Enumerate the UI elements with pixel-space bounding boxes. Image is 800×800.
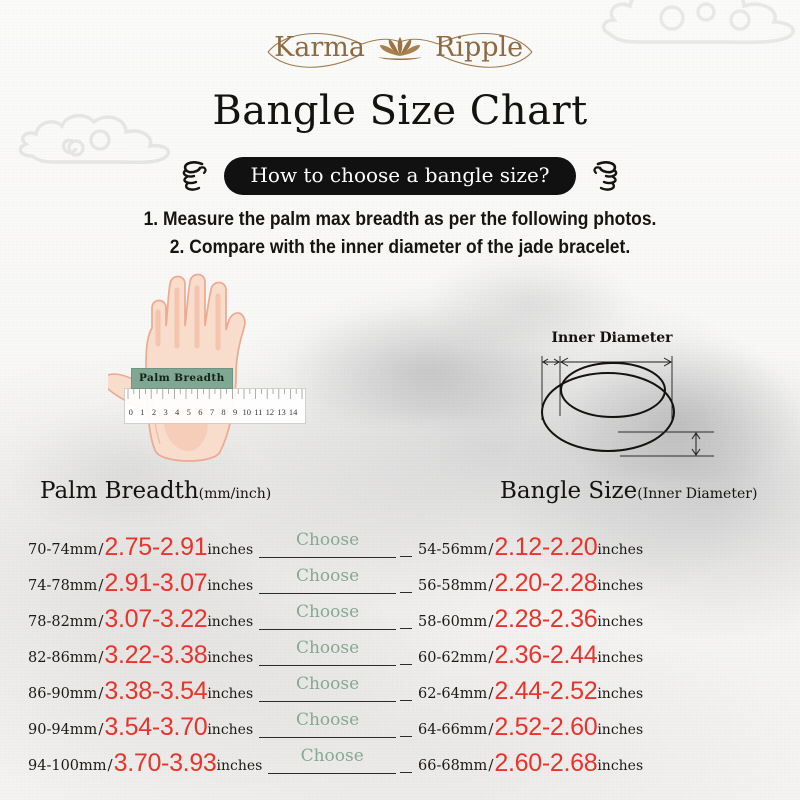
value-separator: / <box>97 540 104 560</box>
palm-inch-value: 2.75-2.91 <box>104 535 207 560</box>
ruler-numbers: 0 1 2 3 4 5 6 7 8 9 10 11 12 13 14 <box>125 402 305 422</box>
palm-inch-value: 3.54-3.70 <box>104 715 207 740</box>
value-separator: / <box>487 648 494 668</box>
ruler-number: 14 <box>287 407 299 417</box>
choose-underline <box>259 737 396 738</box>
bangle-inch-value: 2.60-2.68 <box>494 751 597 776</box>
instructions-block: 1. Measure the palm max breadth as per t… <box>0 206 800 262</box>
choose-label[interactable]: Choose <box>259 530 396 550</box>
ruler-number: 4 <box>171 407 183 417</box>
bangle-inch-unit: inches <box>597 542 643 560</box>
brand-logo-svg: Karma Ripple <box>250 22 550 74</box>
choose-label[interactable]: Choose <box>259 710 396 730</box>
palm-inch-unit: inches <box>207 578 253 596</box>
bangle-inch-value: 2.36-2.44 <box>494 643 597 668</box>
bangle-inch-unit: inches <box>597 614 643 632</box>
bangle-inch-value: 2.52-2.60 <box>494 715 597 740</box>
palm-mm-value: 82-86mm <box>28 650 97 668</box>
value-separator: / <box>97 576 104 596</box>
instruction-step-1: 1. Measure the palm max breadth as per t… <box>32 206 768 234</box>
choose-underline <box>259 701 396 702</box>
curly-flourish-right-icon <box>590 156 624 196</box>
bangle-size-cell: 64-66mm/2.52-2.60inches <box>400 715 800 740</box>
bangle-size-cell: 62-64mm/2.44-2.52inches <box>400 679 800 704</box>
subtitle-row: How to choose a bangle size? <box>0 156 800 196</box>
table-row: 78-82mm/3.07-3.22inchesChoose58-60mm/2.2… <box>0 596 800 632</box>
size-table: 70-74mm/2.75-2.91inchesChoose54-56mm/2.1… <box>0 524 800 776</box>
bangle-inch-value: 2.44-2.52 <box>494 679 597 704</box>
ruler-number: 12 <box>264 407 276 417</box>
bangle-size-cell: 58-60mm/2.28-2.36inches <box>400 607 800 632</box>
value-separator: / <box>97 720 104 740</box>
row-connector-dash <box>400 556 412 557</box>
brand-name-left: Karma <box>274 32 365 63</box>
value-separator: / <box>487 756 494 776</box>
ruler-number: 7 <box>206 407 218 417</box>
choose-slot[interactable]: Choose <box>259 676 396 702</box>
hand-measurement-figure: Palm Breadth <box>108 268 318 468</box>
value-separator: / <box>487 540 494 560</box>
ruler-number: 13 <box>276 407 288 417</box>
ruler-number: 2 <box>148 407 160 417</box>
choose-underline <box>259 665 396 666</box>
choose-label[interactable]: Choose <box>259 638 396 658</box>
value-separator: / <box>487 576 494 596</box>
ruler-number: 1 <box>137 407 149 417</box>
ruler-number: 6 <box>195 407 207 417</box>
palm-inch-unit: inches <box>207 722 253 740</box>
page-title: Bangle Size Chart <box>0 88 800 134</box>
bangle-mm-value: 56-58mm <box>418 578 487 596</box>
bangle-size-chart-page: Karma Ripple Bangle Size Chart How to ch… <box>0 0 800 800</box>
bangle-inch-unit: inches <box>597 686 643 704</box>
value-separator: / <box>107 756 114 776</box>
palm-breadth-cell: 94-100mm/3.70-3.93inchesChoose <box>0 748 400 776</box>
bangle-size-cell: 60-62mm/2.36-2.44inches <box>400 643 800 668</box>
palm-breadth-cell: 70-74mm/2.75-2.91inchesChoose <box>0 532 400 560</box>
choose-underline <box>259 629 396 630</box>
bangle-inch-unit: inches <box>597 722 643 740</box>
value-separator: / <box>487 684 494 704</box>
palm-inch-unit: inches <box>207 614 253 632</box>
ruler-overlay: 0 1 2 3 4 5 6 7 8 9 10 11 12 13 14 <box>124 388 306 424</box>
table-row: 94-100mm/3.70-3.93inchesChoose66-68mm/2.… <box>0 740 800 776</box>
bangle-inch-value: 2.20-2.28 <box>494 571 597 596</box>
right-column-title: Bangle Size <box>500 478 637 504</box>
palm-inch-value: 3.70-3.93 <box>114 751 217 776</box>
choose-slot[interactable]: Choose <box>268 748 396 774</box>
row-connector-dash <box>400 736 412 737</box>
palm-inch-unit: inches <box>207 542 253 560</box>
bangle-inch-value: 2.28-2.36 <box>494 607 597 632</box>
curly-flourish-left-icon <box>176 156 210 196</box>
row-connector-dash <box>400 592 412 593</box>
ruler-ticks-icon <box>125 389 305 402</box>
table-row: 90-94mm/3.54-3.70inchesChoose64-66mm/2.5… <box>0 704 800 740</box>
palm-breadth-cell: 82-86mm/3.22-3.38inchesChoose <box>0 640 400 668</box>
choose-label[interactable]: Choose <box>259 674 396 694</box>
palm-inch-value: 3.07-3.22 <box>104 607 207 632</box>
palm-inch-value: 2.91-3.07 <box>104 571 207 596</box>
palm-breadth-cell: 74-78mm/2.91-3.07inchesChoose <box>0 568 400 596</box>
palm-inch-value: 3.22-3.38 <box>104 643 207 668</box>
bangle-size-cell: 54-56mm/2.12-2.20inches <box>400 535 800 560</box>
palm-mm-value: 94-100mm <box>28 758 107 776</box>
choose-label[interactable]: Choose <box>259 602 396 622</box>
bangle-inch-unit: inches <box>597 650 643 668</box>
palm-mm-value: 90-94mm <box>28 722 97 740</box>
value-separator: / <box>97 612 104 632</box>
bangle-mm-value: 62-64mm <box>418 686 487 704</box>
choose-slot[interactable]: Choose <box>259 640 396 666</box>
bangle-mm-value: 60-62mm <box>418 650 487 668</box>
choose-slot[interactable]: Choose <box>259 532 396 558</box>
brand-logo: Karma Ripple <box>0 22 800 74</box>
bangle-mm-value: 54-56mm <box>418 542 487 560</box>
palm-breadth-tag: Palm Breadth <box>131 368 233 389</box>
ruler-number: 3 <box>160 407 172 417</box>
ruler-number: 8 <box>218 407 230 417</box>
bangle-diameter-figure: Inner Diameter <box>500 328 730 468</box>
ruler-number: 5 <box>183 407 195 417</box>
palm-mm-value: 70-74mm <box>28 542 97 560</box>
choose-label[interactable]: Choose <box>259 566 396 586</box>
bangle-mm-value: 66-68mm <box>418 758 487 776</box>
lotus-icon <box>378 37 422 60</box>
row-connector-dash <box>400 628 412 629</box>
brand-name-right: Ripple <box>435 32 523 63</box>
ruler-number: 11 <box>253 407 265 417</box>
table-row: 74-78mm/2.91-3.07inchesChoose56-58mm/2.2… <box>0 560 800 596</box>
ruler-number: 9 <box>229 407 241 417</box>
ruler-number: 0 <box>125 407 137 417</box>
instruction-step-2: 2. Compare with the inner diameter of th… <box>32 234 768 262</box>
left-column-header: Palm Breadth(mm/inch) <box>40 478 271 504</box>
palm-mm-value: 86-90mm <box>28 686 97 704</box>
palm-inch-unit: inches <box>217 758 263 776</box>
table-row: 82-86mm/3.22-3.38inchesChoose60-62mm/2.3… <box>0 632 800 668</box>
choose-underline <box>259 593 396 594</box>
row-connector-dash <box>400 664 412 665</box>
choose-underline <box>259 557 396 558</box>
bangle-size-cell: 66-68mm/2.60-2.68inches <box>400 751 800 776</box>
bangle-inch-unit: inches <box>597 578 643 596</box>
palm-inch-unit: inches <box>207 686 253 704</box>
palm-mm-value: 78-82mm <box>28 614 97 632</box>
value-separator: / <box>487 720 494 740</box>
choose-slot[interactable]: Choose <box>259 712 396 738</box>
value-separator: / <box>487 612 494 632</box>
bangle-ring-illustration-icon: Inner Diameter <box>500 328 730 468</box>
bangle-inch-value: 2.12-2.20 <box>494 535 597 560</box>
value-separator: / <box>97 684 104 704</box>
right-column-unit: (Inner Diameter) <box>637 486 757 502</box>
choose-slot[interactable]: Choose <box>259 568 396 594</box>
choose-underline <box>268 773 396 774</box>
palm-mm-value: 74-78mm <box>28 578 97 596</box>
choose-slot[interactable]: Choose <box>259 604 396 630</box>
bangle-size-cell: 56-58mm/2.20-2.28inches <box>400 571 800 596</box>
choose-label[interactable]: Choose <box>268 746 396 766</box>
left-column-unit: (mm/inch) <box>199 486 272 502</box>
bangle-inch-unit: inches <box>597 758 643 776</box>
row-connector-dash <box>400 700 412 701</box>
row-connector-dash <box>400 772 412 773</box>
value-separator: / <box>97 648 104 668</box>
palm-breadth-cell: 90-94mm/3.54-3.70inchesChoose <box>0 712 400 740</box>
bangle-mm-value: 64-66mm <box>418 722 487 740</box>
table-row: 86-90mm/3.38-3.54inchesChoose62-64mm/2.4… <box>0 668 800 704</box>
palm-breadth-cell: 78-82mm/3.07-3.22inchesChoose <box>0 604 400 632</box>
palm-inch-value: 3.38-3.54 <box>104 679 207 704</box>
table-row: 70-74mm/2.75-2.91inchesChoose54-56mm/2.1… <box>0 524 800 560</box>
right-column-header: Bangle Size(Inner Diameter) <box>500 478 757 504</box>
inner-diameter-label: Inner Diameter <box>551 330 673 346</box>
bangle-mm-value: 58-60mm <box>418 614 487 632</box>
ruler-number: 10 <box>241 407 253 417</box>
left-column-title: Palm Breadth <box>40 478 199 504</box>
palm-breadth-cell: 86-90mm/3.38-3.54inchesChoose <box>0 676 400 704</box>
how-to-choose-badge: How to choose a bangle size? <box>224 157 575 195</box>
palm-inch-unit: inches <box>207 650 253 668</box>
